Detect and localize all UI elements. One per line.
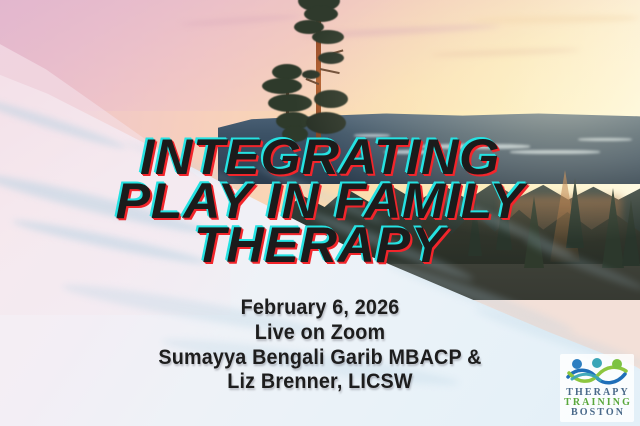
poster-title: INTEGRATING PLAY IN FAMILY THERAPY [0,134,640,268]
logo-wordmark: THERAPY TRAINING BOSTON [562,388,632,419]
event-date: February 6, 2026 [19,296,621,321]
event-format: Live on Zoom [19,321,621,346]
three-figures-swoosh-icon [565,357,629,387]
presenter-line-1: Sumayya Bengali Garib MBACP & [19,346,621,371]
poster-subtitle: February 6, 2026 Live on Zoom Sumayya Be… [0,296,640,395]
therapy-training-boston-logo: THERAPY TRAINING BOSTON [560,354,634,422]
presenter-line-2: Liz Brenner, LICSW [19,370,621,395]
title-line-3: THERAPY [0,222,640,268]
poster-content: INTEGRATING PLAY IN FAMILY THERAPY Febru… [0,0,640,426]
event-promo-poster: INTEGRATING PLAY IN FAMILY THERAPY Febru… [0,0,640,426]
logo-word-boston: BOSTON [562,408,632,418]
